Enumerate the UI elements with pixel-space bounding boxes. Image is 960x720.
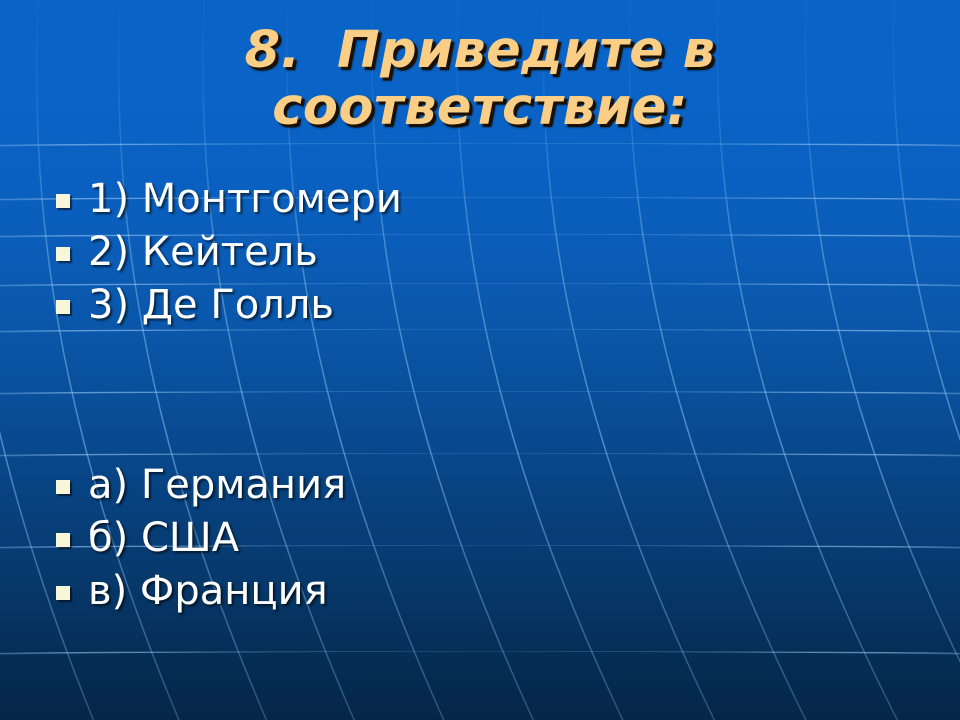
square-bullet-icon bbox=[56, 586, 70, 600]
list-item-label: а) Германия bbox=[88, 462, 346, 508]
list-item[interactable]: б) США bbox=[56, 511, 346, 564]
list-item[interactable]: 3) Де Голль bbox=[56, 278, 402, 331]
list-item-label: 3) Де Голль bbox=[88, 282, 334, 328]
bullet-group-countries: а) Германия б) США в) Франция bbox=[56, 458, 346, 617]
list-item-label: 2) Кейтель bbox=[88, 229, 318, 275]
presentation-slide: 8. Приведите в соответствие: 1) Монтгоме… bbox=[0, 0, 960, 720]
list-item[interactable]: 2) Кейтель bbox=[56, 225, 402, 278]
square-bullet-icon bbox=[56, 533, 70, 547]
square-bullet-icon bbox=[56, 480, 70, 494]
list-item-label: в) Франция bbox=[88, 568, 328, 614]
title-line-1: 8. Приведите в bbox=[0, 22, 960, 79]
square-bullet-icon bbox=[56, 194, 70, 208]
list-item[interactable]: в) Франция bbox=[56, 564, 346, 617]
square-bullet-icon bbox=[56, 247, 70, 261]
slide-title: 8. Приведите в соответствие: bbox=[0, 22, 960, 136]
list-item-label: б) США bbox=[88, 515, 239, 561]
list-item[interactable]: а) Германия bbox=[56, 458, 346, 511]
list-item-label: 1) Монтгомери bbox=[88, 176, 402, 222]
title-line-2: соответствие: bbox=[0, 79, 960, 136]
list-item[interactable]: 1) Монтгомери bbox=[56, 172, 402, 225]
square-bullet-icon bbox=[56, 300, 70, 314]
bullet-group-people: 1) Монтгомери 2) Кейтель 3) Де Голль bbox=[56, 172, 402, 331]
